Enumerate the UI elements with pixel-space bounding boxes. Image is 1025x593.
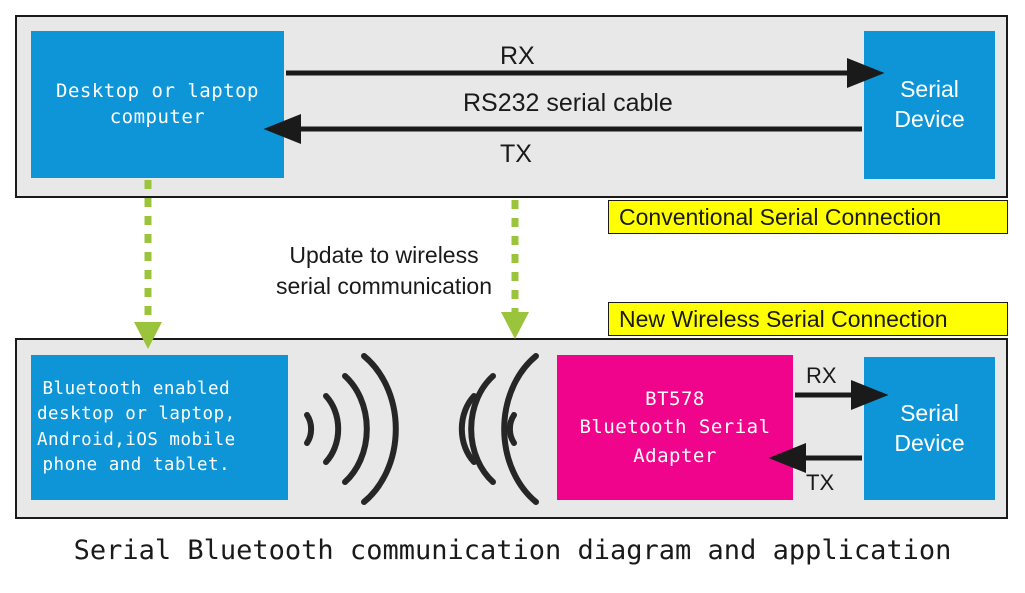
badge-conventional-serial-connection: Conventional Serial Connection xyxy=(608,200,1008,234)
label-tx-wireless: TX xyxy=(806,470,834,496)
arrow-update-left-green xyxy=(134,180,162,349)
badge-new-wireless-serial-connection: New Wireless Serial Connection xyxy=(608,302,1008,336)
box-serial-device-conventional: SerialDevice xyxy=(864,31,995,179)
label-update-to-wireless-note: Update to wirelessserial communication xyxy=(258,240,510,302)
box-serial-device-wireless: SerialDevice xyxy=(864,357,995,500)
label-tx-conventional: TX xyxy=(500,140,532,169)
label-rs232-serial-cable: RS232 serial cable xyxy=(463,89,673,118)
label-rx-wireless: RX xyxy=(806,363,837,389)
figure-caption: Serial Bluetooth communication diagram a… xyxy=(0,535,1025,566)
box-bluetooth-enabled-client: Bluetooth enableddesktop or laptop,Andro… xyxy=(31,355,288,500)
diagram-canvas: Desktop or laptopcomputer SerialDevice R… xyxy=(0,0,1025,593)
label-rx-conventional: RX xyxy=(500,42,535,71)
box-desktop-or-laptop-computer: Desktop or laptopcomputer xyxy=(31,31,284,178)
box-bt578-bluetooth-serial-adapter: BT578Bluetooth SerialAdapter xyxy=(557,355,793,500)
